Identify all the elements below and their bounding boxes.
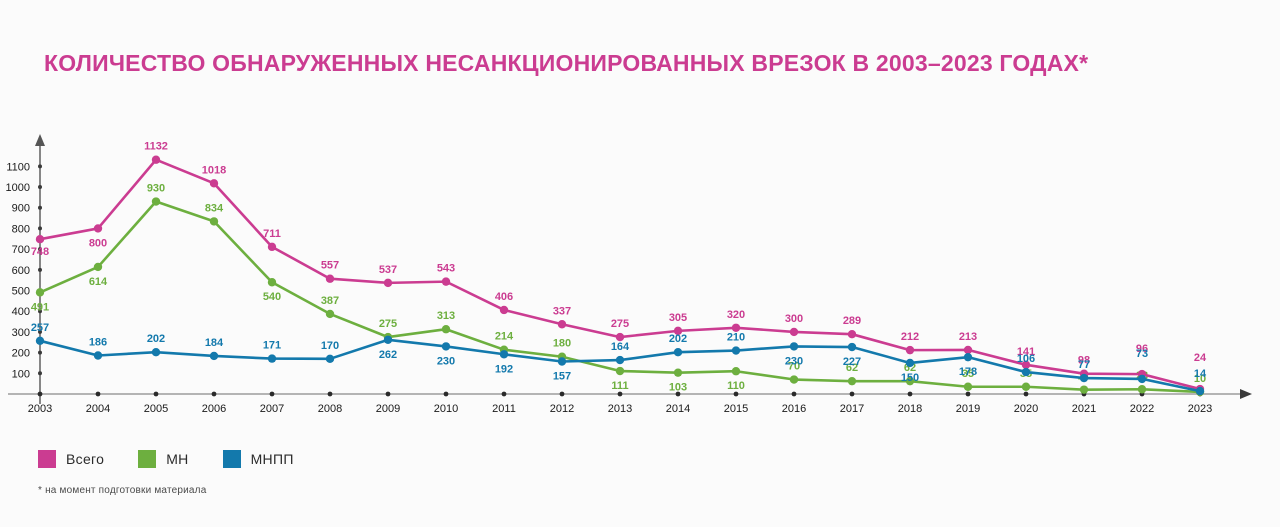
data-point-label: 103 bbox=[669, 382, 687, 394]
data-point[interactable] bbox=[500, 306, 508, 314]
y-axis-tick-900 bbox=[38, 206, 42, 210]
x-axis-tick-2013 bbox=[618, 392, 623, 397]
data-point-label: 164 bbox=[611, 341, 630, 353]
data-point[interactable] bbox=[964, 346, 972, 354]
x-axis-tick-2004 bbox=[96, 392, 101, 397]
data-point-label: 748 bbox=[31, 246, 49, 258]
legend-label-mnpp: МНПП bbox=[251, 451, 294, 467]
x-axis-tick-label-2006: 2006 bbox=[202, 403, 226, 415]
data-point-label: 230 bbox=[785, 355, 803, 367]
data-point[interactable] bbox=[558, 357, 566, 365]
data-point-label: 150 bbox=[901, 372, 919, 384]
data-point[interactable] bbox=[790, 375, 798, 383]
data-point-label: 491 bbox=[31, 301, 49, 313]
data-point[interactable] bbox=[732, 367, 740, 375]
x-axis-tick-label-2018: 2018 bbox=[898, 403, 922, 415]
data-point[interactable] bbox=[442, 325, 450, 333]
data-point[interactable] bbox=[442, 277, 450, 285]
data-point-label: 77 bbox=[1078, 359, 1090, 371]
data-point-label: 275 bbox=[379, 318, 397, 330]
x-axis-tick-label-2014: 2014 bbox=[666, 403, 690, 415]
data-point-label: 178 bbox=[959, 366, 977, 378]
data-point[interactable] bbox=[36, 337, 44, 345]
data-point[interactable] bbox=[268, 354, 276, 362]
data-point-label: 180 bbox=[553, 338, 571, 350]
x-axis-tick-label-2011: 2011 bbox=[492, 403, 516, 415]
data-point[interactable] bbox=[848, 330, 856, 338]
x-axis-tick-label-2013: 2013 bbox=[608, 403, 632, 415]
y-axis-tick-200 bbox=[38, 351, 42, 355]
x-axis-tick-label-2007: 2007 bbox=[260, 403, 284, 415]
data-point[interactable] bbox=[732, 346, 740, 354]
data-point-label: 711 bbox=[263, 228, 281, 240]
x-axis-tick-2016 bbox=[792, 392, 797, 397]
data-point[interactable] bbox=[384, 279, 392, 287]
data-point[interactable] bbox=[616, 367, 624, 375]
data-point[interactable] bbox=[848, 343, 856, 351]
data-point-label: 157 bbox=[553, 371, 571, 383]
data-point[interactable] bbox=[1138, 375, 1146, 383]
legend-label-mn: МН bbox=[166, 451, 188, 467]
x-axis-tick-2008 bbox=[328, 392, 333, 397]
data-point-label: 557 bbox=[321, 260, 339, 272]
y-axis-tick-label-1000: 1000 bbox=[6, 182, 30, 194]
x-axis-tick-2006 bbox=[212, 392, 217, 397]
data-point-label: 614 bbox=[89, 276, 108, 288]
data-point-label: 210 bbox=[727, 332, 745, 344]
y-axis-tick-label-100: 100 bbox=[12, 368, 30, 380]
x-axis-tick-label-2005: 2005 bbox=[144, 403, 168, 415]
data-point[interactable] bbox=[790, 342, 798, 350]
x-axis-tick-2015 bbox=[734, 392, 739, 397]
x-axis-tick-label-2009: 2009 bbox=[376, 403, 400, 415]
data-point[interactable] bbox=[674, 368, 682, 376]
data-point-label: 214 bbox=[495, 331, 514, 343]
data-point-label: 111 bbox=[611, 380, 628, 392]
x-axis-tick-label-2012: 2012 bbox=[550, 403, 574, 415]
legend-swatch-mnpp-icon bbox=[223, 450, 241, 468]
data-point[interactable] bbox=[442, 342, 450, 350]
data-point[interactable] bbox=[1196, 387, 1204, 395]
data-point-label: 275 bbox=[611, 318, 629, 330]
data-point-label: 170 bbox=[321, 340, 339, 352]
data-point-label: 834 bbox=[205, 202, 224, 214]
y-axis-tick-800 bbox=[38, 226, 42, 230]
data-point[interactable] bbox=[674, 348, 682, 356]
y-axis-tick-label-500: 500 bbox=[12, 286, 30, 298]
x-axis-tick-2020 bbox=[1024, 392, 1029, 397]
data-point[interactable] bbox=[906, 346, 914, 354]
data-point-label: 213 bbox=[959, 331, 977, 343]
x-axis-tick-label-2017: 2017 bbox=[840, 403, 864, 415]
x-axis-tick-label-2022: 2022 bbox=[1130, 403, 1154, 415]
y-axis-tick-1100 bbox=[38, 164, 42, 168]
x-axis-tick-label-2008: 2008 bbox=[318, 403, 342, 415]
data-point-label: 73 bbox=[1136, 348, 1148, 360]
data-point-label: 300 bbox=[785, 313, 803, 325]
y-axis-tick-label-900: 900 bbox=[12, 203, 30, 215]
data-point[interactable] bbox=[268, 278, 276, 286]
data-point-label: 14 bbox=[1194, 368, 1207, 380]
x-axis-tick-label-2004: 2004 bbox=[86, 403, 110, 415]
x-axis-tick-2007 bbox=[270, 392, 275, 397]
x-axis-tick-label-2023: 2023 bbox=[1188, 403, 1212, 415]
data-point-label: 202 bbox=[669, 333, 687, 345]
x-axis-arrow-icon bbox=[1240, 389, 1252, 399]
x-axis-tick-2011 bbox=[502, 392, 507, 397]
data-point[interactable] bbox=[36, 235, 44, 243]
data-point[interactable] bbox=[1138, 385, 1146, 393]
data-point-label: 543 bbox=[437, 263, 455, 275]
legend-item-mnpp[interactable]: МНПП bbox=[223, 450, 294, 468]
data-point-label: 184 bbox=[205, 337, 224, 349]
x-axis-tick-label-2010: 2010 bbox=[434, 403, 458, 415]
data-point-label: 257 bbox=[31, 322, 49, 334]
legend-label-total: Всего bbox=[66, 451, 104, 467]
x-axis-tick-2017 bbox=[850, 392, 855, 397]
data-point-label: 212 bbox=[901, 331, 919, 343]
data-point[interactable] bbox=[326, 275, 334, 283]
data-point-label: 262 bbox=[379, 349, 397, 361]
data-point-label: 337 bbox=[553, 305, 571, 317]
legend-swatch-total-icon bbox=[38, 450, 56, 468]
y-axis-tick-600 bbox=[38, 268, 42, 272]
data-point[interactable] bbox=[1022, 368, 1030, 376]
y-axis-tick-label-800: 800 bbox=[12, 223, 30, 235]
chart-legend: Всего МН МНПП bbox=[38, 450, 294, 468]
chart-page: КОЛИЧЕСТВО ОБНАРУЖЕННЫХ НЕСАНКЦИОНИРОВАН… bbox=[0, 0, 1280, 527]
page-title: КОЛИЧЕСТВО ОБНАРУЖЕННЫХ НЕСАНКЦИОНИРОВАН… bbox=[44, 50, 1088, 77]
data-point[interactable] bbox=[210, 217, 218, 225]
data-point[interactable] bbox=[210, 352, 218, 360]
data-point-label: 313 bbox=[437, 310, 455, 322]
data-point[interactable] bbox=[1080, 385, 1088, 393]
data-point[interactable] bbox=[790, 328, 798, 336]
x-axis-tick-2012 bbox=[560, 392, 565, 397]
data-point[interactable] bbox=[36, 288, 44, 296]
y-axis-tick-label-700: 700 bbox=[12, 244, 30, 256]
x-axis-tick-2018 bbox=[908, 392, 913, 397]
legend-swatch-mn-icon bbox=[138, 450, 156, 468]
data-point[interactable] bbox=[616, 356, 624, 364]
x-axis-tick-2009 bbox=[386, 392, 391, 397]
data-point[interactable] bbox=[152, 156, 160, 164]
x-axis-tick-label-2020: 2020 bbox=[1014, 403, 1038, 415]
x-axis-tick-2010 bbox=[444, 392, 449, 397]
data-point[interactable] bbox=[616, 333, 624, 341]
footnote: * на момент подготовки материала bbox=[38, 485, 206, 496]
y-axis-tick-label-600: 600 bbox=[12, 265, 30, 277]
data-point[interactable] bbox=[848, 377, 856, 385]
y-axis-tick-label-300: 300 bbox=[12, 327, 30, 339]
data-point-label: 930 bbox=[147, 183, 165, 195]
data-point-label: 1018 bbox=[202, 164, 226, 176]
data-point[interactable] bbox=[906, 359, 914, 367]
x-axis-tick-label-2019: 2019 bbox=[956, 403, 980, 415]
data-point[interactable] bbox=[94, 224, 102, 232]
data-point-label: 171 bbox=[263, 340, 281, 352]
y-axis-tick-label-1100: 1100 bbox=[6, 161, 30, 173]
data-point[interactable] bbox=[152, 197, 160, 205]
x-axis-tick-label-2021: 2021 bbox=[1072, 403, 1096, 415]
data-point[interactable] bbox=[964, 383, 972, 391]
data-point-label: 800 bbox=[89, 237, 107, 249]
y-axis-tick-label-200: 200 bbox=[12, 348, 30, 360]
data-point-label: 320 bbox=[727, 309, 745, 321]
x-axis-tick-label-2016: 2016 bbox=[782, 403, 806, 415]
data-point-label: 406 bbox=[495, 291, 513, 303]
line-chart-svg: 1002003004005006007008009001000110020032… bbox=[0, 130, 1280, 430]
y-axis-arrow-icon bbox=[35, 134, 45, 146]
data-point[interactable] bbox=[210, 179, 218, 187]
data-point-label: 227 bbox=[843, 356, 861, 368]
data-point-label: 230 bbox=[437, 355, 455, 367]
data-point-label: 24 bbox=[1194, 352, 1207, 364]
data-point[interactable] bbox=[384, 336, 392, 344]
data-point[interactable] bbox=[94, 263, 102, 271]
data-point[interactable] bbox=[500, 350, 508, 358]
data-point[interactable] bbox=[326, 355, 334, 363]
legend-item-mn[interactable]: МН bbox=[138, 450, 188, 468]
x-axis-tick-2019 bbox=[966, 392, 971, 397]
chart-plot-area: 1002003004005006007008009001000110020032… bbox=[0, 130, 1280, 430]
data-point-label: 537 bbox=[379, 264, 397, 276]
data-point[interactable] bbox=[1022, 383, 1030, 391]
x-axis-tick-2005 bbox=[154, 392, 159, 397]
data-point-label: 305 bbox=[669, 312, 687, 324]
data-point-label: 186 bbox=[89, 337, 107, 349]
x-axis-tick-2003 bbox=[38, 392, 43, 397]
data-point-label: 106 bbox=[1017, 353, 1035, 365]
data-point-label: 202 bbox=[147, 333, 165, 345]
data-point-label: 192 bbox=[495, 363, 513, 375]
data-point[interactable] bbox=[152, 348, 160, 356]
data-point-label: 110 bbox=[727, 380, 745, 392]
x-axis-tick-label-2015: 2015 bbox=[724, 403, 748, 415]
data-point-label: 387 bbox=[321, 295, 339, 307]
data-point-label: 540 bbox=[263, 291, 281, 303]
data-point[interactable] bbox=[964, 353, 972, 361]
data-point[interactable] bbox=[94, 351, 102, 359]
data-point[interactable] bbox=[1080, 374, 1088, 382]
y-axis-tick-label-400: 400 bbox=[12, 306, 30, 318]
y-axis-tick-100 bbox=[38, 371, 42, 375]
y-axis-tick-1000 bbox=[38, 185, 42, 189]
data-point[interactable] bbox=[558, 320, 566, 328]
data-point[interactable] bbox=[268, 243, 276, 251]
data-point-label: 289 bbox=[843, 315, 861, 327]
data-point[interactable] bbox=[326, 310, 334, 318]
legend-item-total[interactable]: Всего bbox=[38, 450, 104, 468]
x-axis-tick-label-2003: 2003 bbox=[28, 403, 52, 415]
data-point-label: 1132 bbox=[144, 141, 168, 153]
